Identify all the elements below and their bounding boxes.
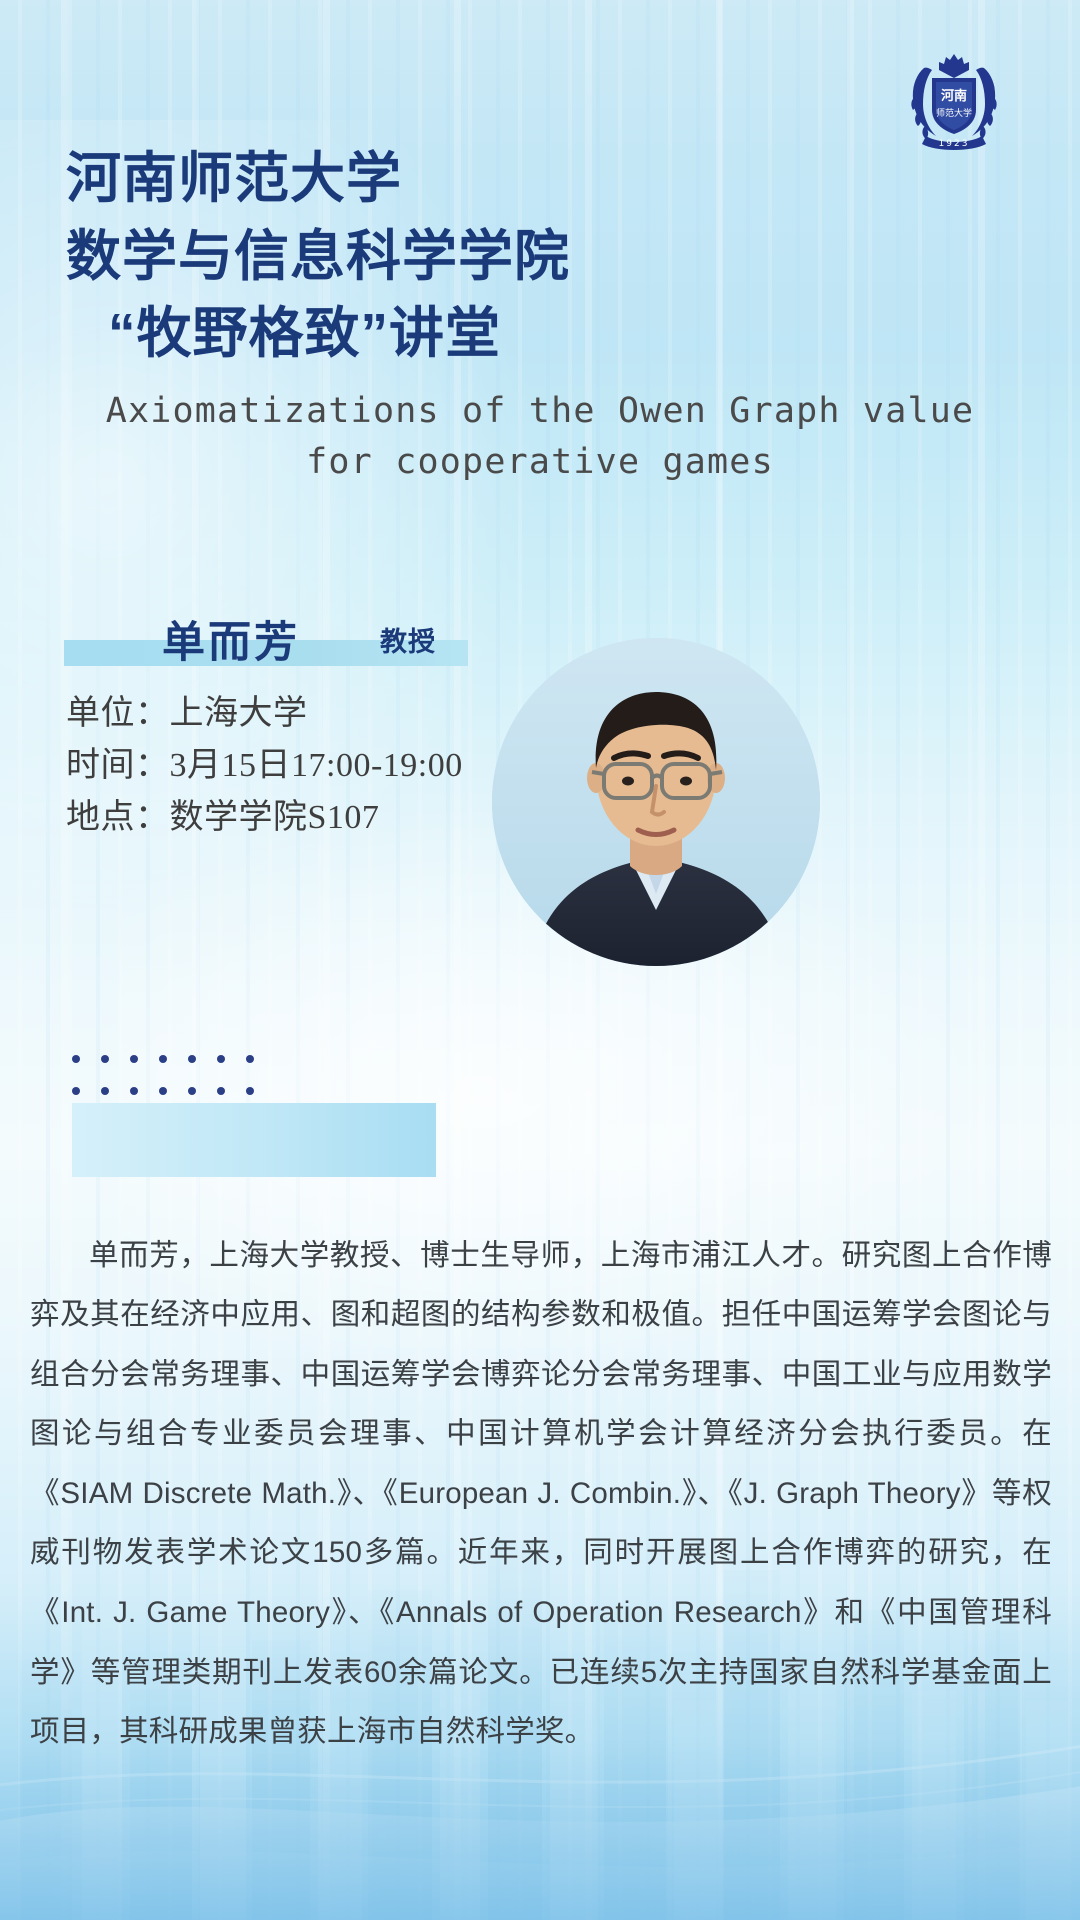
dot-row-2 — [72, 1087, 254, 1095]
english-lecture-title: Axiomatizations of the Owen Graph value … — [0, 386, 1080, 488]
dot — [72, 1055, 80, 1063]
dot — [72, 1087, 80, 1095]
dot — [188, 1055, 196, 1063]
heading-line-2: 数学与信息科学学院 — [66, 218, 946, 296]
poster-heading: 河南师范大学 数学与信息科学学院 “牧野格致”讲堂 — [66, 140, 946, 373]
english-title-line-1: Axiomatizations of the Owen Graph value — [0, 386, 1080, 437]
lecture-poster: 河南 师范大学 1923 河南师范大学 数学与信息科学学院 “牧野格致”讲堂 A… — [0, 0, 1080, 1920]
dot — [101, 1055, 109, 1063]
info-row-affiliation: 单位：上海大学 — [66, 688, 463, 740]
speaker-portrait-avatar — [492, 638, 820, 966]
dot — [101, 1087, 109, 1095]
svg-text:师范大学: 师范大学 — [936, 107, 972, 119]
dot — [130, 1055, 138, 1063]
dot — [130, 1087, 138, 1095]
info-row-time: 时间：3月15日17:00-19:00 — [66, 740, 463, 792]
decorative-blue-block — [72, 1103, 436, 1177]
speaker-name-row: 单而芳 教授 — [64, 612, 484, 668]
dot — [217, 1087, 225, 1095]
dot — [188, 1087, 196, 1095]
dot — [217, 1055, 225, 1063]
heading-line-3: “牧野格致”讲堂 — [66, 295, 946, 373]
speaker-name: 单而芳 — [162, 608, 300, 670]
svg-text:河南: 河南 — [941, 88, 967, 104]
dot — [159, 1087, 167, 1095]
dot — [246, 1087, 254, 1095]
heading-line-1: 河南师范大学 — [66, 140, 946, 218]
english-title-line-2: for cooperative games — [0, 437, 1080, 488]
lecture-info-list: 单位：上海大学 时间：3月15日17:00-19:00 地点：数学学院S107 — [66, 688, 463, 844]
speaker-biography: 单而芳，上海大学教授、博士生导师，上海市浦江人才。研究图上合作博弈及其在经济中应… — [30, 1226, 1052, 1762]
dot — [159, 1055, 167, 1063]
speaker-academic-title: 教授 — [380, 620, 436, 659]
dot-row-1 — [72, 1055, 254, 1063]
info-row-location: 地点：数学学院S107 — [66, 792, 463, 844]
dot — [246, 1055, 254, 1063]
